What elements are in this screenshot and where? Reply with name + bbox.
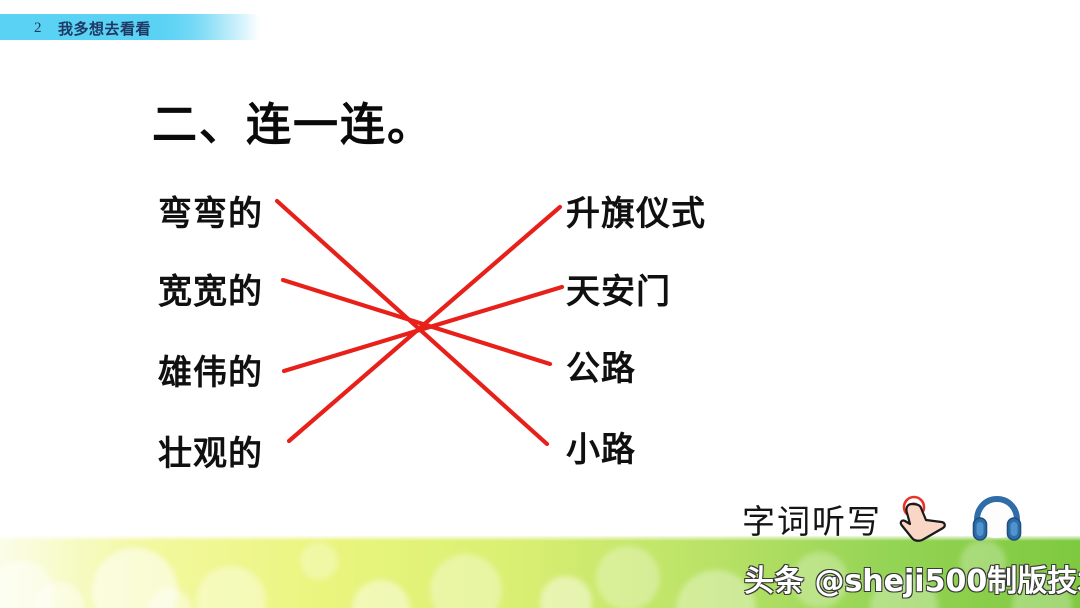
connector-line-2	[283, 280, 550, 364]
slide-canvas: 2 我多想去看看 二、连一连。 弯弯的 宽宽的 雄伟的 壮观的 升旗仪式 天安门…	[0, 0, 1080, 608]
match-right-item-2[interactable]: 天安门	[566, 264, 671, 313]
connector-line-3	[284, 287, 562, 371]
bokeh-circle	[300, 542, 338, 580]
match-right-item-3[interactable]: 公路	[566, 341, 636, 390]
match-left-item-4[interactable]: 壮观的	[158, 426, 263, 475]
bokeh-circle	[430, 554, 502, 608]
match-right-item-4[interactable]: 小路	[566, 422, 636, 471]
bokeh-circle	[352, 580, 410, 608]
tap-hand-icon[interactable]	[896, 494, 958, 544]
word-dictation-widget[interactable]: 字词听写	[742, 494, 1022, 544]
word-dictation-label: 字词听写	[742, 495, 882, 543]
lesson-number: 2	[34, 20, 42, 37]
match-left-item-2[interactable]: 宽宽的	[158, 264, 263, 313]
connector-line-4	[289, 207, 560, 441]
bokeh-circle	[540, 576, 592, 608]
bokeh-circle	[196, 566, 266, 608]
match-right-item-1[interactable]: 升旗仪式	[566, 186, 706, 235]
bokeh-circle	[596, 546, 660, 608]
match-left-item-3[interactable]: 雄伟的	[158, 345, 263, 394]
headphones-icon[interactable]	[972, 496, 1022, 542]
lesson-title: 我多想去看看	[58, 18, 151, 39]
connector-line-1	[277, 201, 547, 444]
breadcrumb: 2 我多想去看看	[34, 16, 151, 40]
watermark-text: 头条 @sheji500制版技术	[744, 556, 1080, 600]
match-left-item-1[interactable]: 弯弯的	[158, 186, 263, 235]
